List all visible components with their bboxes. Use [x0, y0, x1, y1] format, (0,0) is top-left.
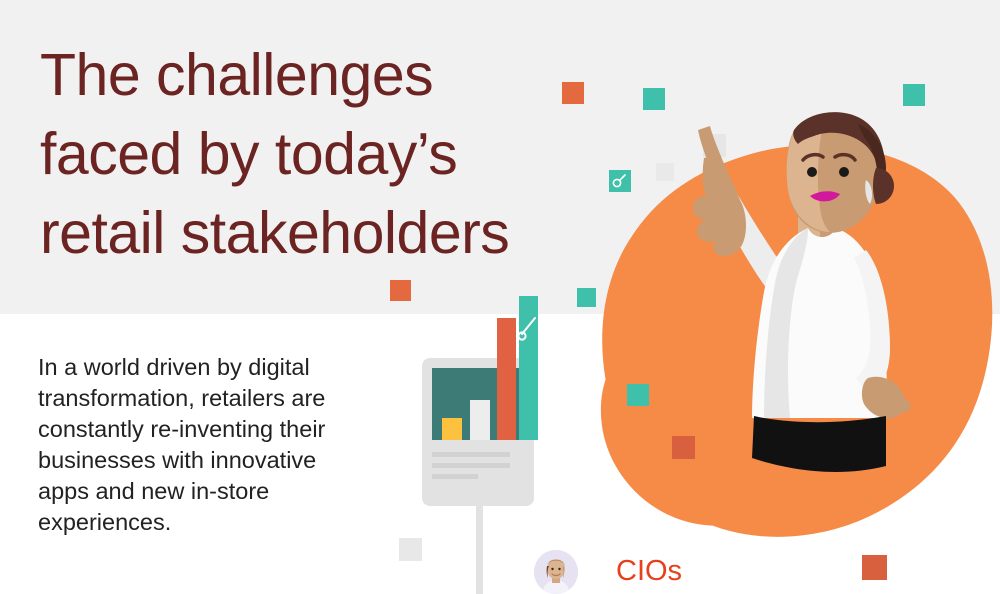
cio-avatar — [534, 550, 578, 594]
infographic-canvas: The challenges faced by today’s retail s… — [0, 0, 1000, 594]
intro-paragraph: In a world driven by digital transformat… — [38, 352, 368, 538]
square-teal-4 — [627, 384, 649, 406]
stakeholder-label-cios: CIOs — [616, 554, 682, 588]
square-orange-4 — [862, 555, 887, 580]
chart-bar-3 — [497, 318, 516, 440]
chart-bar-2 — [470, 400, 490, 440]
square-teal-1 — [643, 88, 665, 110]
search-tile[interactable] — [609, 170, 631, 192]
page-title: The challenges faced by today’s retail s… — [40, 36, 640, 273]
device-stand — [476, 496, 483, 594]
square-teal-3 — [577, 288, 596, 307]
device-text-line — [432, 452, 510, 457]
analytics-device-illustration — [418, 296, 542, 594]
square-teal-2 — [903, 84, 925, 106]
device-text-line — [432, 474, 478, 479]
magnifier-icon — [609, 170, 631, 192]
device-text-line — [432, 463, 510, 468]
cio-persona-illustration — [690, 110, 950, 510]
square-orange-2 — [390, 280, 411, 301]
chart-bar-1 — [442, 418, 462, 440]
square-gray-2 — [656, 163, 674, 181]
stakeholder-cios[interactable]: CIOs — [534, 548, 754, 594]
